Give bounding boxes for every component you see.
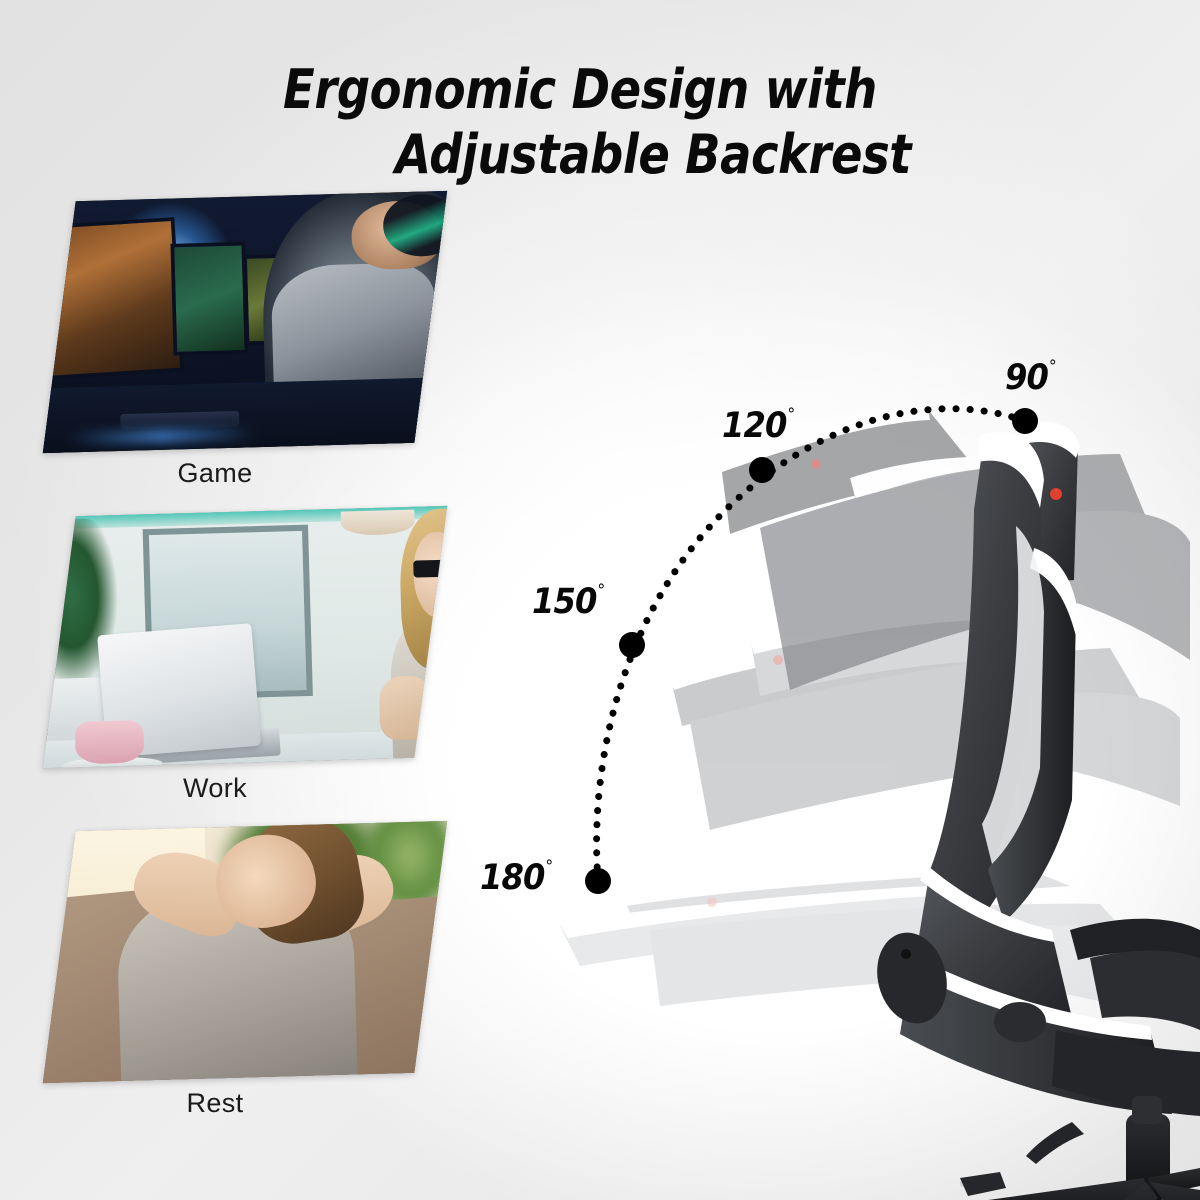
monitor-primary: [43, 218, 184, 380]
caption-game: Game: [0, 458, 430, 489]
use-case-item-game: Game: [0, 196, 470, 489]
caption-work: Work: [0, 773, 430, 804]
marker-dot-120: [749, 457, 775, 483]
marker-dot-180: [585, 868, 611, 894]
angle-label-120: 120°: [722, 406, 793, 446]
coffee-cup: [75, 719, 144, 764]
arc-dotted-path: [597, 409, 1025, 881]
degree-symbol-150: °: [597, 581, 604, 601]
angle-label-180: 180°: [480, 858, 551, 898]
product-infographic: Ergonomic Design with Adjustable Backres…: [0, 0, 1200, 1200]
recline-arc: [460, 330, 1200, 1030]
laptop-work-photo: [43, 506, 447, 768]
use-case-photo-column: Game: [0, 196, 470, 1141]
recline-angle-diagram: 90° 120° 150° 180°: [460, 330, 1200, 1200]
photo-frame-work: [43, 506, 447, 768]
gamer-shirt: [271, 262, 438, 395]
page-title: Ergonomic Design with Adjustable Backres…: [0, 62, 1160, 182]
monitor-secondary: [170, 242, 249, 355]
photo-frame-game: [43, 191, 447, 453]
angle-label-90: 90°: [1005, 358, 1055, 398]
photo-frame-rest: [43, 821, 447, 1083]
working-woman-figure: [277, 506, 447, 768]
forearm: [378, 675, 434, 740]
angle-label-150: 150°: [532, 582, 603, 622]
caption-rest: Rest: [0, 1088, 430, 1119]
relaxing-sofa-photo: [43, 821, 447, 1083]
degree-symbol-120: °: [787, 405, 794, 425]
use-case-item-work: Work: [0, 511, 470, 804]
marker-dot-90: [1012, 408, 1038, 434]
degree-symbol-180: °: [545, 857, 552, 877]
marker-dot-150: [619, 632, 645, 658]
eyeglasses-icon: [413, 560, 448, 579]
use-case-item-rest: Rest: [0, 826, 470, 1119]
title-line-2: Adjustable Backrest: [81, 127, 1079, 182]
degree-symbol-90: °: [1049, 357, 1056, 377]
gaming-setup-photo: [43, 191, 447, 453]
title-line-1: Ergonomic Design with: [81, 62, 1079, 117]
